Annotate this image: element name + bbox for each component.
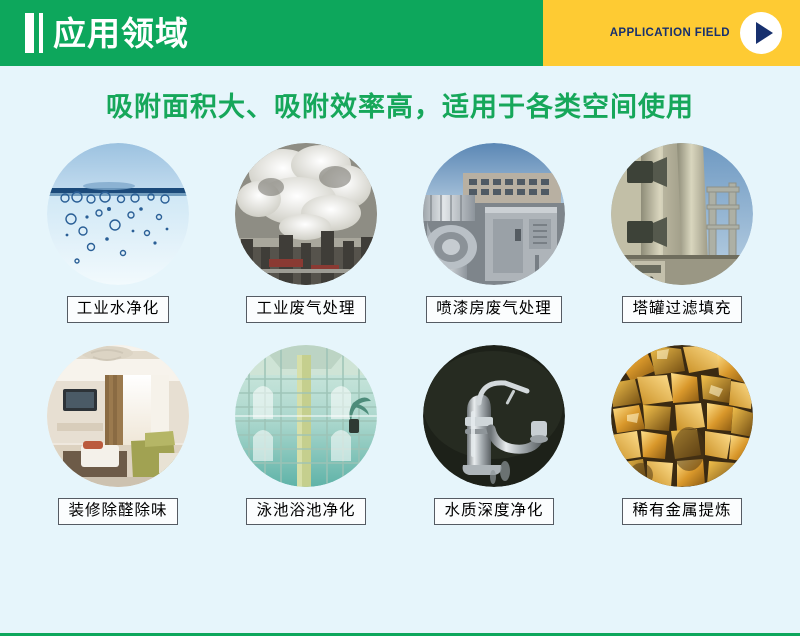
grid-item[interactable]: 装修除醛除味 [24, 345, 212, 525]
industrial-waste-gas-treatment-photo [235, 143, 377, 285]
header-yellow-panel: APPLICATION FIELD [543, 0, 800, 66]
header-green-panel: 应用领域 [0, 0, 543, 66]
grid-item[interactable]: 塔罐过滤填充 [588, 143, 776, 323]
grid-item[interactable]: 水质深度净化 [400, 345, 588, 525]
grid-item[interactable]: 喷漆房废气处理 [400, 143, 588, 323]
grid-item[interactable]: 稀有金属提炼 [588, 345, 776, 525]
grid-item-label: 喷漆房废气处理 [426, 296, 562, 323]
accent-bar-wide [25, 13, 34, 53]
interior-formaldehyde-odor-removal-photo [47, 345, 189, 487]
header-accent-bars-icon [25, 13, 43, 53]
rare-metal-refining-photo [611, 345, 753, 487]
tower-tank-filter-packing-photo [611, 143, 753, 285]
section-headline: 吸附面积大、吸附效率高，适用于各类空间使用 [0, 94, 800, 121]
grid-item-label: 泳池浴池净化 [246, 498, 365, 525]
accent-bar-narrow [39, 13, 43, 53]
page-header: 应用领域 APPLICATION FIELD [0, 0, 800, 66]
paint-booth-exhaust-treatment-photo [423, 143, 565, 285]
deep-water-purification-faucet-photo [423, 345, 565, 487]
play-triangle-glyph [756, 22, 773, 44]
industrial-water-purification-photo [47, 143, 189, 285]
header-english-label: APPLICATION FIELD [610, 27, 730, 39]
grid-item-label: 水质深度净化 [434, 498, 553, 525]
play-triangle-icon[interactable] [740, 12, 782, 54]
grid-item-label: 工业水净化 [67, 296, 170, 323]
grid-item-label: 稀有金属提炼 [622, 498, 741, 525]
grid-item-label: 塔罐过滤填充 [622, 296, 741, 323]
page-title: 应用领域 [53, 17, 189, 50]
grid-item-label: 装修除醛除味 [58, 498, 177, 525]
grid-item[interactable]: 工业废气处理 [212, 143, 400, 323]
pool-bath-purification-photo [235, 345, 377, 487]
grid-item-label: 工业废气处理 [246, 296, 365, 323]
grid-item[interactable]: 工业水净化 [24, 143, 212, 323]
application-grid: 工业水净化 [0, 143, 800, 525]
grid-item[interactable]: 泳池浴池净化 [212, 345, 400, 525]
